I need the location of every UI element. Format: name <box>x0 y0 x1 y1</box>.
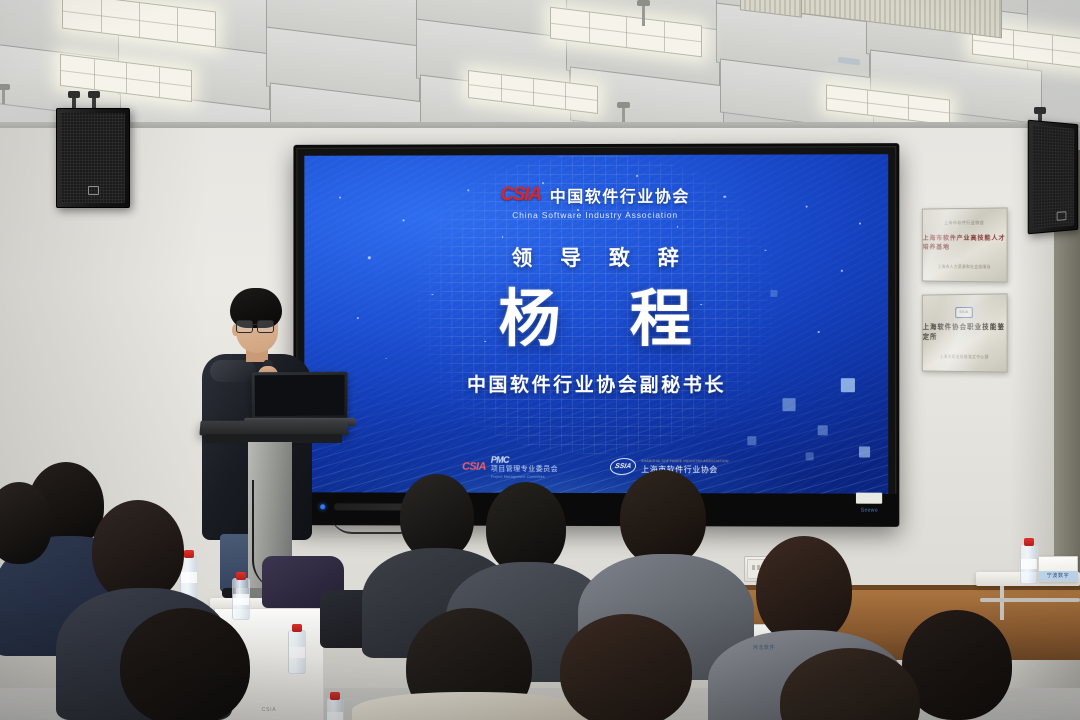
csia-logo-mark: CSIA <box>500 184 541 206</box>
ceiling-mount-stem <box>2 88 5 104</box>
slide-speaker-role: 中国软件行业协会副秘书长 <box>464 370 726 397</box>
conference-photo: 上海市软件行业协会 上海市软件产业高技能人才培养基地 上海市人力资源和社会保障局… <box>0 0 1080 720</box>
display-screen: CSIA 中国软件行业协会 China Software Industry As… <box>304 154 888 493</box>
presentation-display[interactable]: CSIA 中国软件行业协会 China Software Industry As… <box>293 143 899 527</box>
name-card-label: 河北软件 <box>753 644 775 653</box>
pmc-name-en: Project Management Committee <box>491 475 558 479</box>
wall-plaque-training-base: 上海市软件行业协会 上海市软件产业高技能人才培养基地 上海市人力资源和社会保障局 <box>922 207 1008 282</box>
glasses-icon <box>236 320 253 333</box>
glasses-icon <box>257 320 274 333</box>
audience-shoulders <box>352 692 588 720</box>
audience-head <box>120 608 250 720</box>
water-bottle[interactable] <box>326 698 344 720</box>
slide-org-name-en: China Software Industry Association <box>512 210 678 220</box>
name-card-label: 宁波数字 <box>1047 572 1069 581</box>
water-bottle[interactable] <box>288 630 306 674</box>
slide-org-logo: CSIA 中国软件行业协会 China Software Industry As… <box>500 183 690 220</box>
table-rail <box>980 598 1080 602</box>
audience-head <box>756 536 852 644</box>
audience-head <box>560 614 692 720</box>
ceiling-mount-stem <box>642 4 645 26</box>
speaker-brand-logo <box>88 186 99 195</box>
laptop-screen <box>255 375 345 417</box>
name-card: 宁波数字 <box>1038 556 1078 582</box>
speaker-brand-logo <box>1057 211 1067 221</box>
audience-head <box>486 482 566 574</box>
water-bottle[interactable] <box>232 578 250 620</box>
ssia-name-en: SHANGHAI SOFTWARE INDUSTRY ASSOCIATION <box>641 459 728 463</box>
slide-footer-logos: CSIA PMC 项目管理专业委员会 Project Management Co… <box>304 454 888 479</box>
slide-background: CSIA 中国软件行业协会 China Software Industry As… <box>304 154 888 493</box>
water-bottle[interactable] <box>1020 544 1038 584</box>
csia-pmc-mark: CSIA <box>462 461 486 473</box>
table-leg <box>1000 586 1004 620</box>
ssia-mark: SSIA <box>609 458 638 475</box>
slide-kicker: 领 导 致 辞 <box>500 242 689 272</box>
footer-logo-csia-pmc: CSIA PMC 项目管理专业委员会 Project Management Co… <box>462 455 558 479</box>
laptop-lid <box>252 372 348 421</box>
wall-plaque-skills-institute: SSIA 上海软件协会职业技能鉴定所 上海市职业技能鉴定中心颁 <box>922 293 1008 372</box>
pmc-name-cn: 项目管理专业委员会 <box>491 466 558 475</box>
audience-head <box>92 500 184 602</box>
audience-head <box>620 470 706 566</box>
pmc-mark: PMC <box>491 455 558 466</box>
ceiling <box>0 0 1080 132</box>
slide-speaker-name: 杨 程 <box>473 288 718 353</box>
slide-org-name-cn: 中国软件行业协会 <box>550 183 690 207</box>
